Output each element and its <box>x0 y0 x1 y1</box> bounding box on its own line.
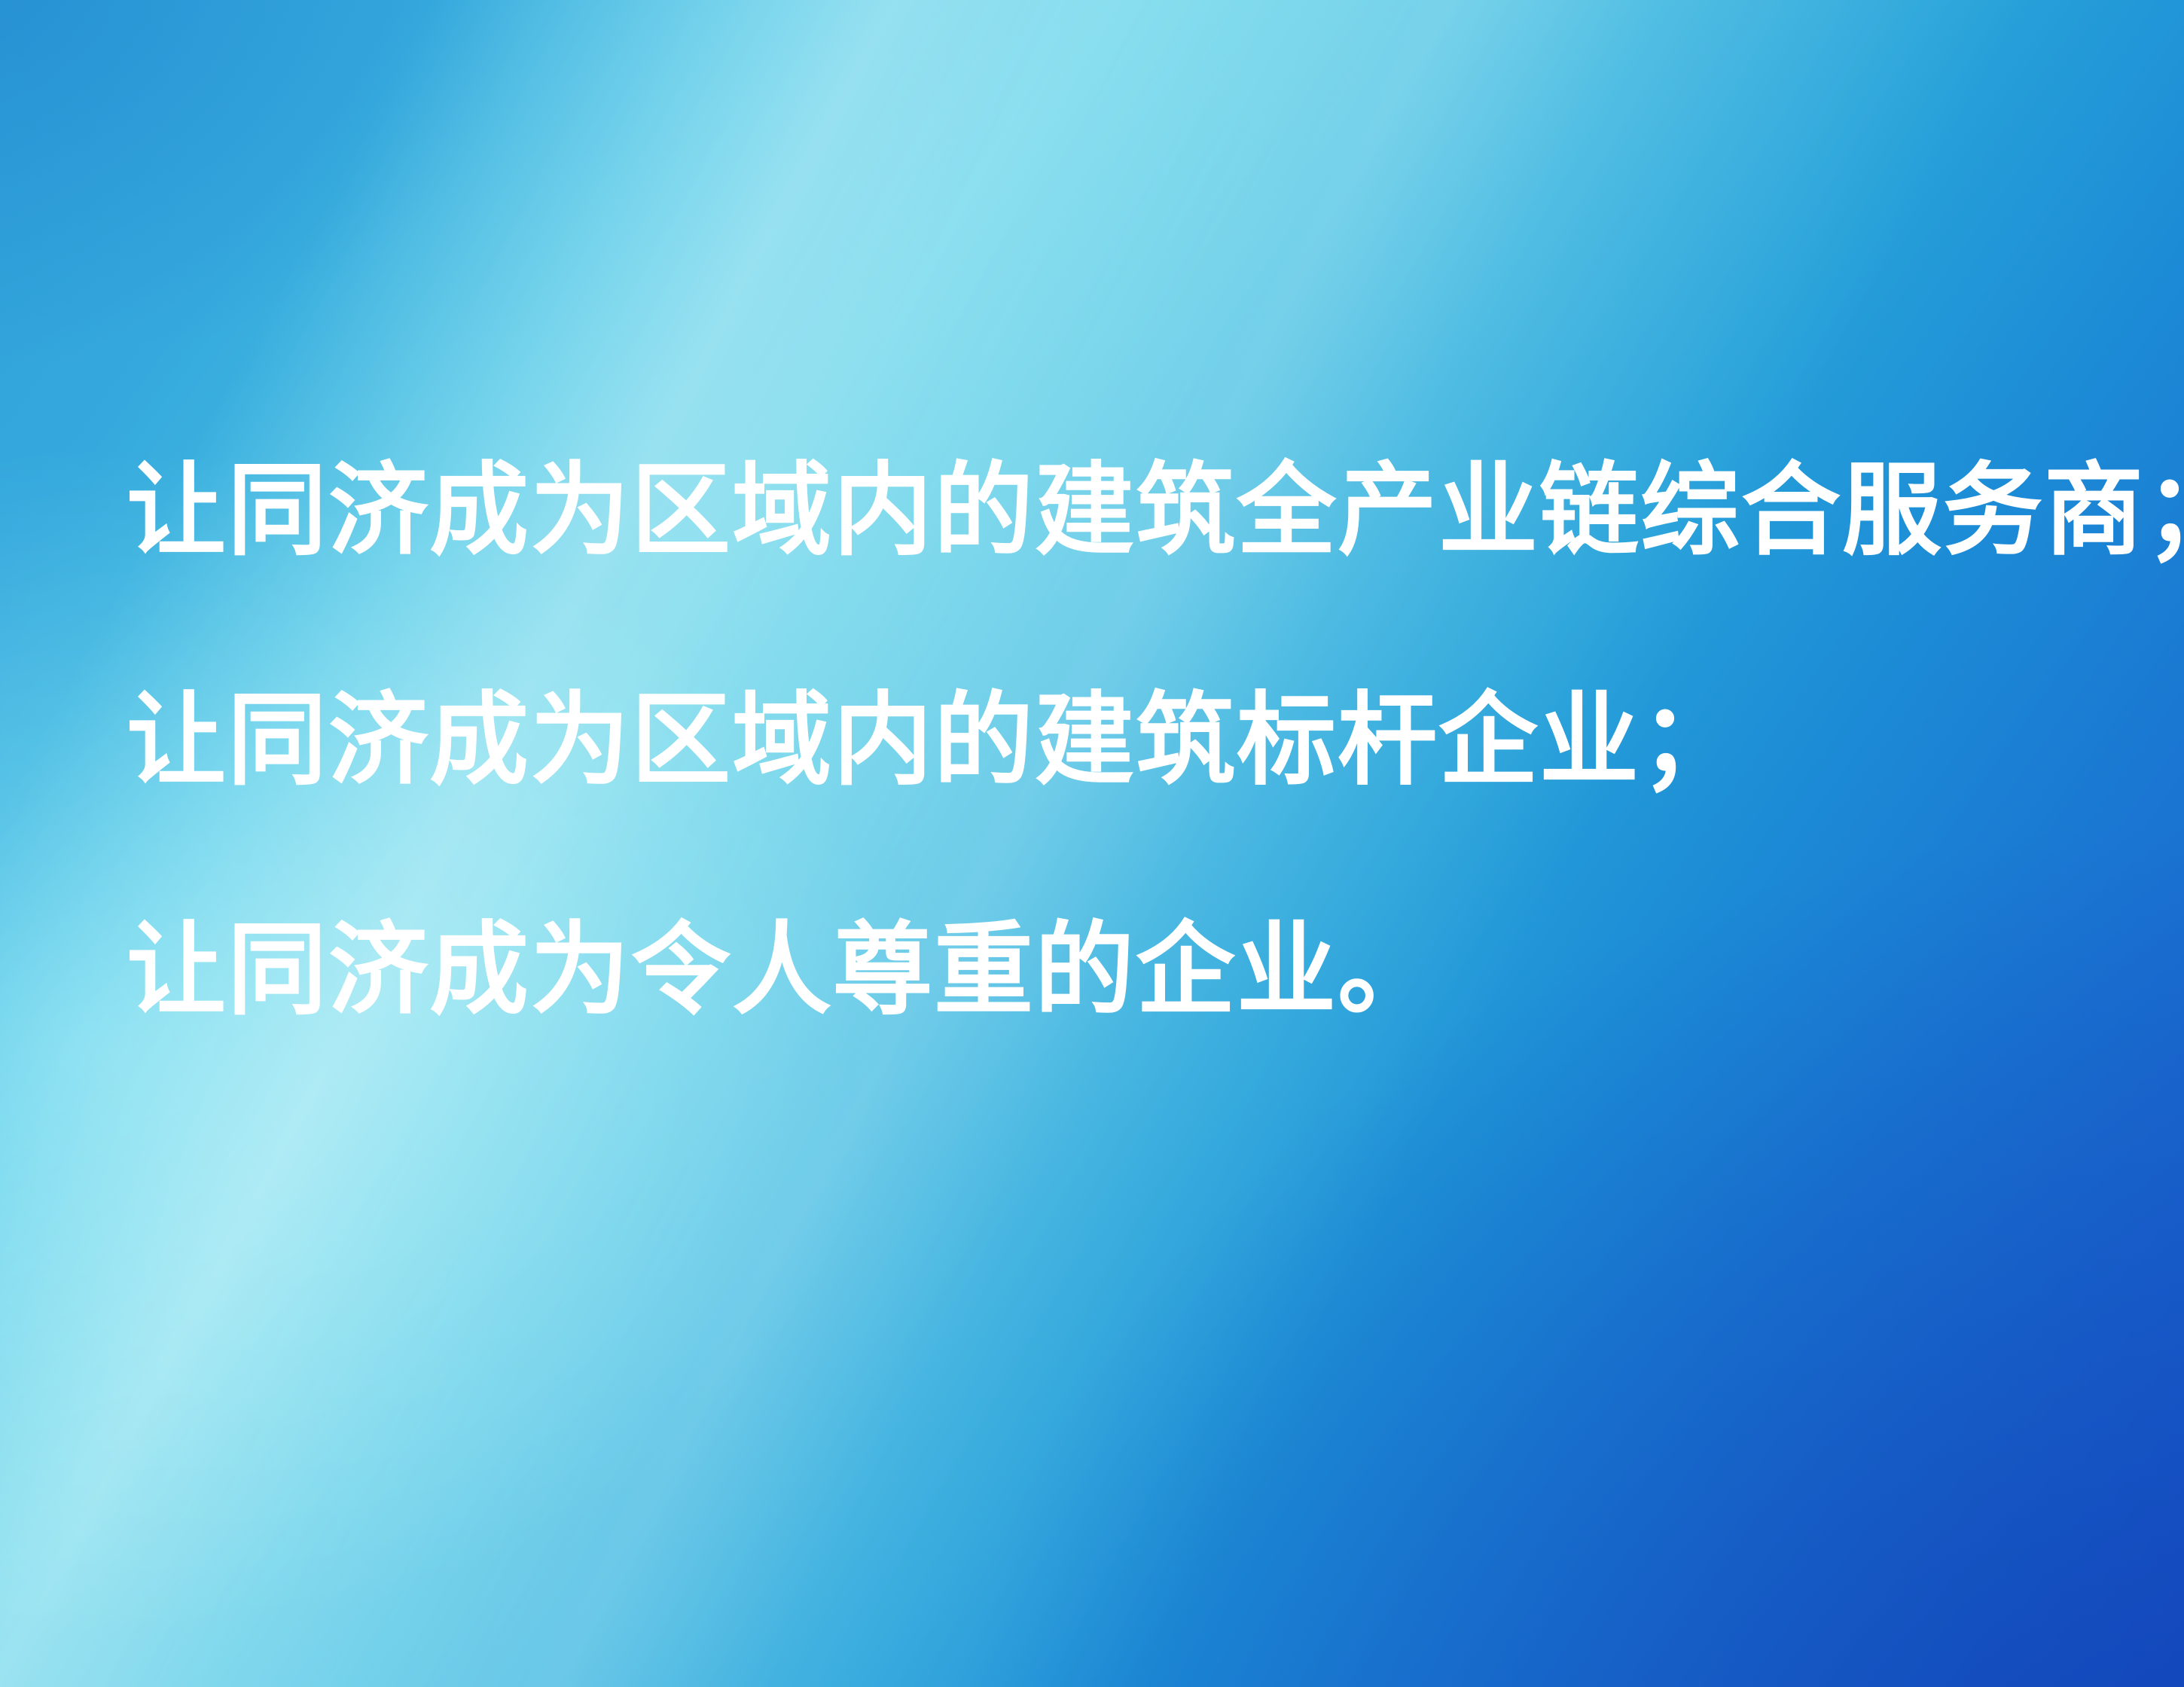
presentation-slide: 让同济成为区域内的建筑全产业链综合服务商； 让同济成为区域内的建筑标杆企业； 让… <box>0 0 2184 1687</box>
vision-statement-block: 让同济成为区域内的建筑全产业链综合服务商； 让同济成为区域内的建筑标杆企业； 让… <box>127 461 2054 1020</box>
vision-line-1: 让同济成为区域内的建筑全产业链综合服务商； <box>127 461 2054 563</box>
vision-line-3: 让同济成为令人尊重的企业。 <box>127 920 2054 1022</box>
vision-line-2: 让同济成为区域内的建筑标杆企业； <box>127 691 2054 792</box>
